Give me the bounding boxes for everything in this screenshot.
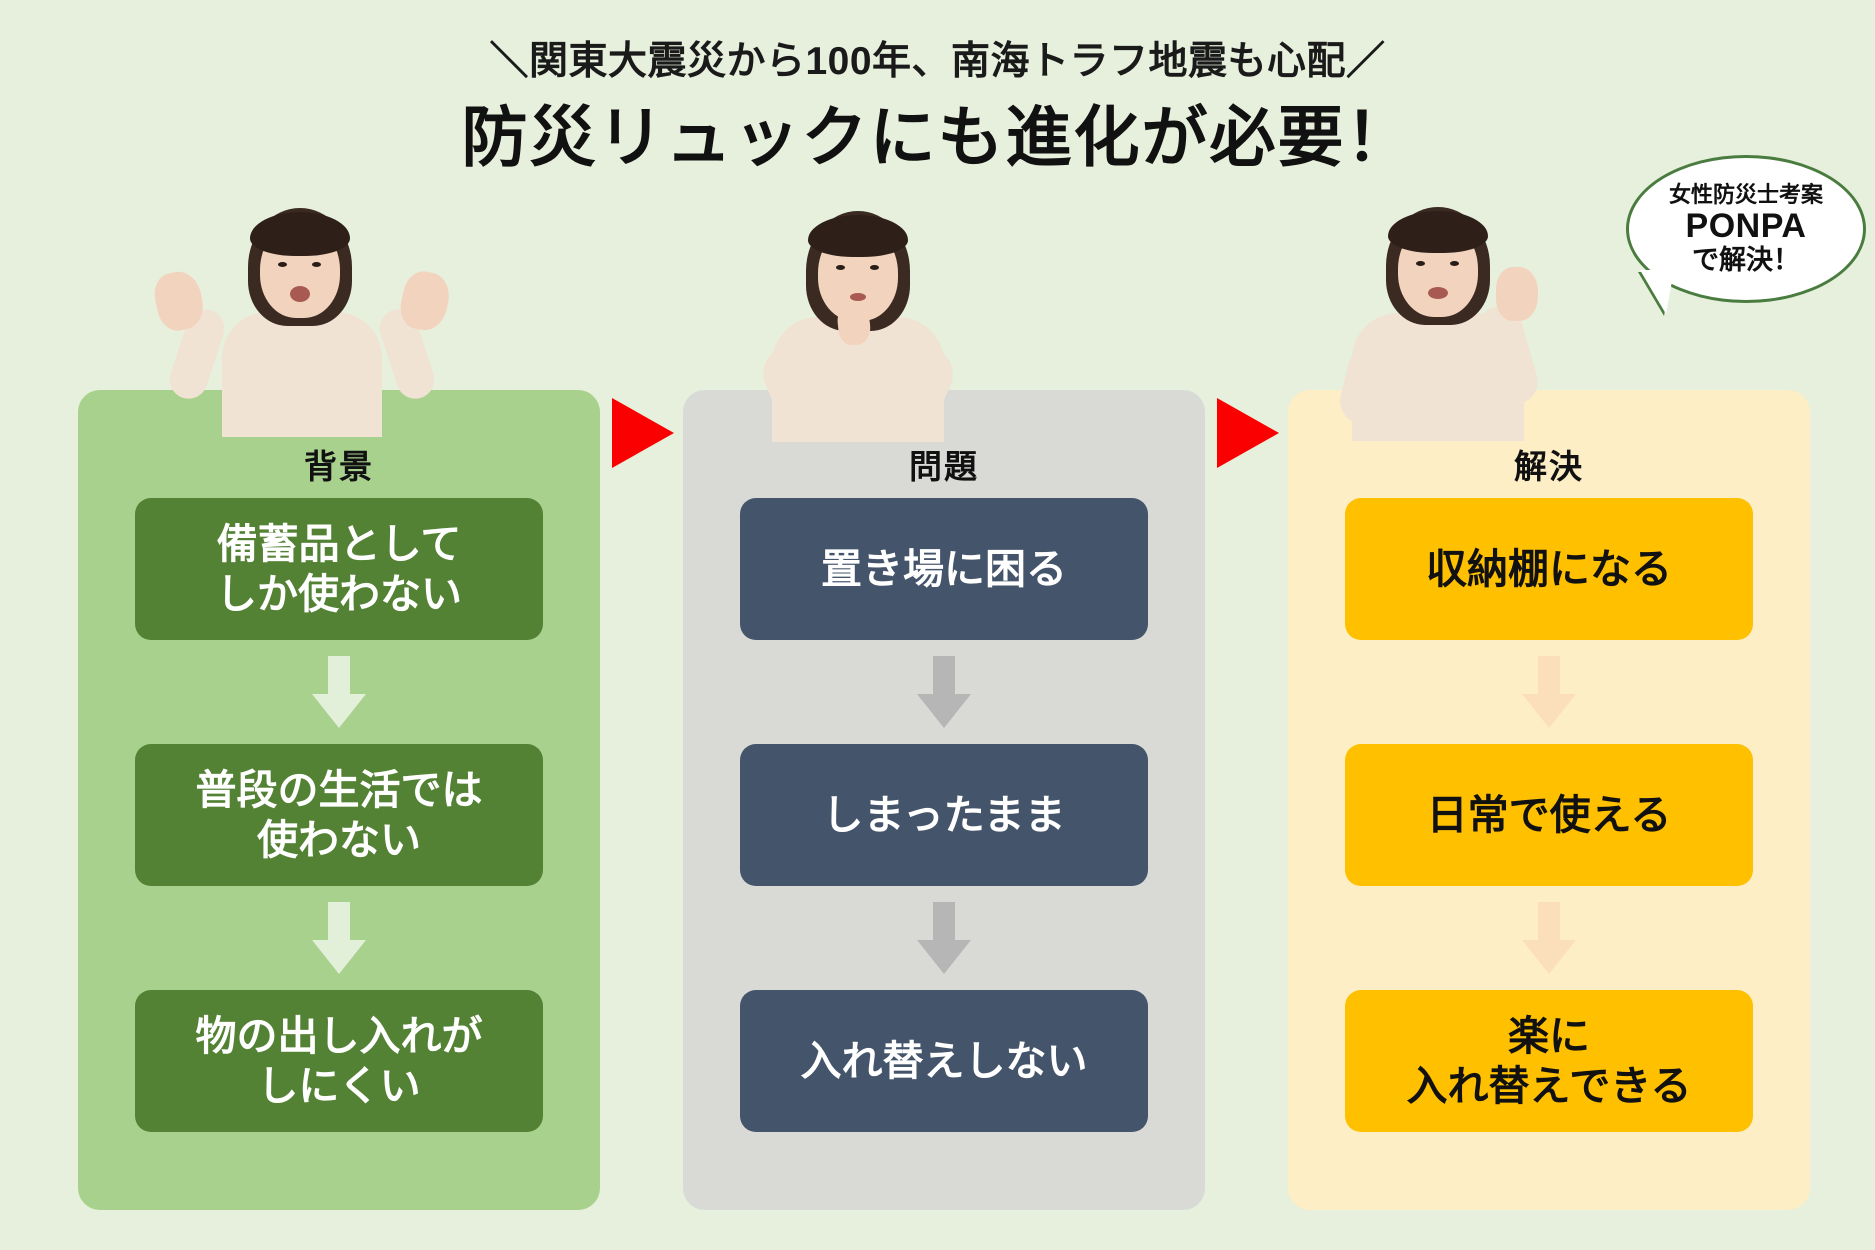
down-arrow-icon: [1522, 902, 1576, 974]
down-arrow-icon: [312, 656, 366, 728]
column-background: 備蓄品として しか使わない 普段の生活では 使わない 物の出し入れが しにくい: [78, 390, 600, 1210]
speech-bubble-tail: [1640, 270, 1674, 314]
page-title: 防災リュックにも進化が必要！: [0, 103, 1875, 172]
step-box: しまったまま: [740, 744, 1148, 886]
stage-label-problem: 問題: [683, 440, 1205, 488]
step-box: 楽に 入れ替えできる: [1345, 990, 1753, 1132]
step-box: 収納棚になる: [1345, 498, 1753, 640]
down-arrow-icon: [1522, 656, 1576, 728]
bubble-brand-name: PONPA: [1686, 207, 1807, 246]
step-box: 入れ替えしない: [740, 990, 1148, 1132]
stage-label-solution: 解決: [1288, 440, 1810, 488]
bubble-line-3: で解決！: [1692, 246, 1800, 276]
header: ＼関東大震災から100年、南海トラフ地震も心配／ 防災リュックにも進化が必要！: [0, 0, 1875, 172]
step-box-label: 備蓄品として しか使わない: [216, 519, 462, 619]
step-box-label: 収納棚になる: [1426, 544, 1672, 594]
step-box-label: 置き場に困る: [821, 544, 1067, 594]
column-solution: 収納棚になる 日常で使える 楽に 入れ替えできる: [1288, 390, 1810, 1210]
step-box: 物の出し入れが しにくい: [135, 990, 543, 1132]
column-problem: 置き場に困る しまったまま 入れ替えしない: [683, 390, 1205, 1210]
step-box-label: しまったまま: [822, 790, 1065, 840]
down-arrow-icon: [917, 902, 971, 974]
step-box: 置き場に困る: [740, 498, 1148, 640]
step-box-label: 日常で使える: [1427, 790, 1672, 840]
step-box: 備蓄品として しか使わない: [135, 498, 543, 640]
header-kicker: ＼関東大震災から100年、南海トラフ地震も心配／: [0, 42, 1875, 81]
background-to-problem-arrow-icon: [612, 398, 674, 468]
step-box: 普段の生活では 使わない: [135, 744, 543, 886]
step-box-label: 普段の生活では 使わない: [196, 765, 483, 865]
step-box: 日常で使える: [1345, 744, 1753, 886]
step-box-label: 楽に 入れ替えできる: [1407, 1011, 1692, 1111]
problem-to-solution-arrow-icon: [1217, 398, 1279, 468]
down-arrow-icon: [312, 902, 366, 974]
down-arrow-icon: [917, 656, 971, 728]
step-box-label: 入れ替えしない: [801, 1036, 1088, 1086]
bubble-line-1: 女性防災士考案: [1669, 183, 1823, 207]
step-box-label: 物の出し入れが しにくい: [196, 1011, 483, 1111]
stage-label-background: 背景: [78, 440, 600, 488]
